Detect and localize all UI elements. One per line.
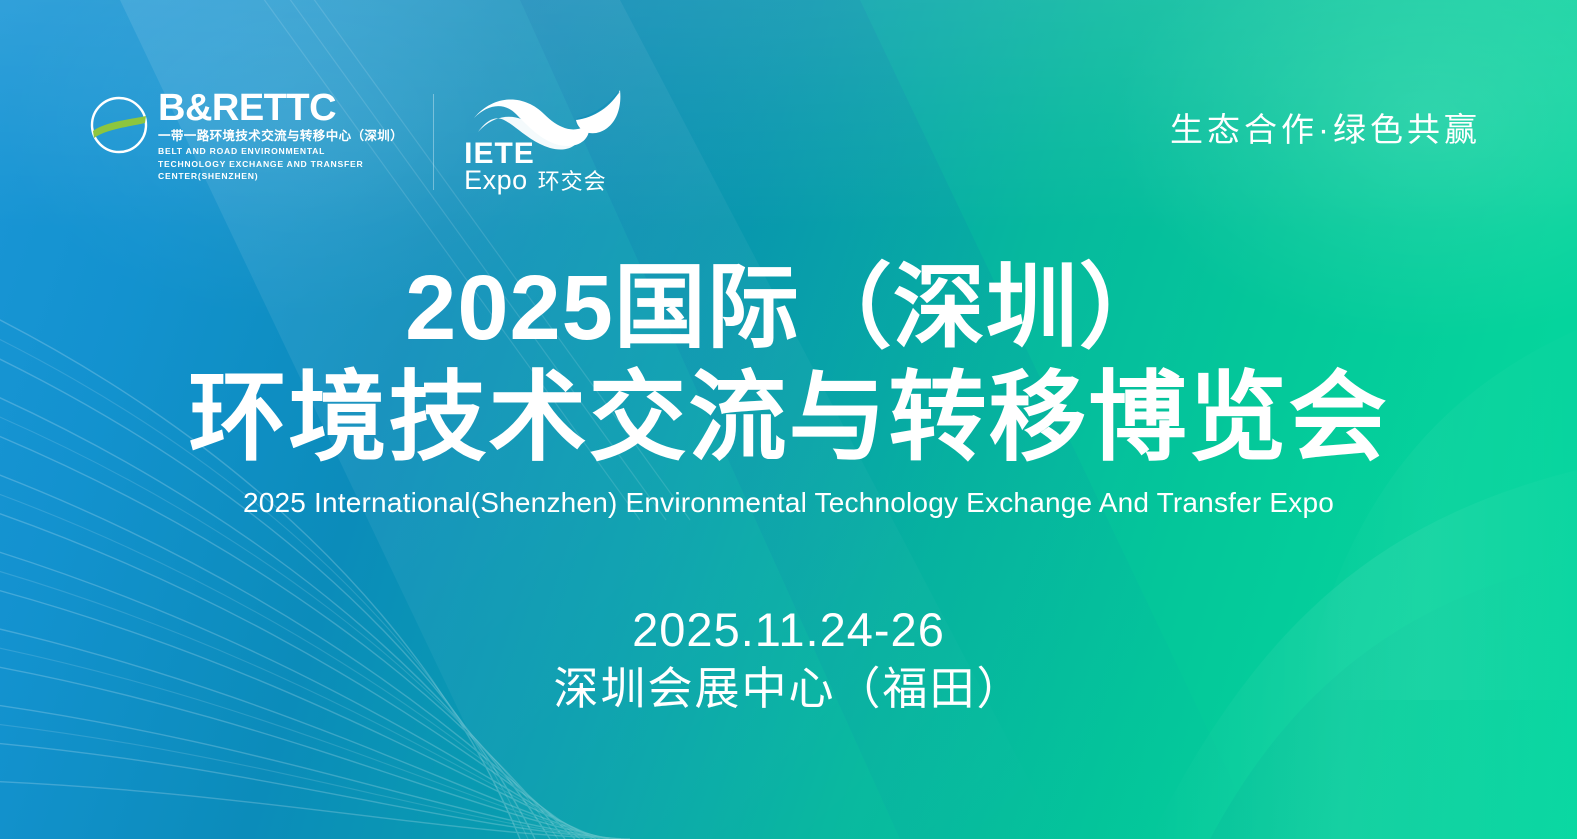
iete-expo-row: Expo 环交会 [464, 166, 607, 196]
title-line-2: 环境技术交流与转移博览会 [0, 362, 1577, 472]
title-line-1: 2025国际（深圳） [0, 256, 1577, 360]
main-title-block: 2025国际（深圳） 环境技术交流与转移博览会 2025 Internation… [0, 256, 1577, 520]
brettc-english-line-1: BELT AND ROAD ENVIRONMENTAL [158, 146, 403, 157]
logo-divider [433, 94, 434, 190]
brettc-english-line-2: TECHNOLOGY EXCHANGE AND TRANSFER [158, 159, 403, 170]
brettc-chinese-name: 一带一路环境技术交流与转移中心（深圳） [158, 129, 403, 144]
subtitle-english: 2025 International(Shenzhen) Environment… [0, 486, 1577, 520]
iete-expo-logo: IETE Expo 环交会 [464, 88, 624, 196]
event-venue: 深圳会展中心（福田） [0, 660, 1577, 718]
banner-slogan: 生态合作·绿色共赢 [1170, 103, 1481, 151]
circle-globe-green-band-icon [88, 94, 150, 156]
event-date: 2025.11.24-26 [0, 600, 1577, 660]
brettc-wordmark: B&RETTC [158, 88, 403, 128]
brettc-logo: B&RETTC 一带一路环境技术交流与转移中心（深圳） BELT AND ROA… [88, 88, 403, 182]
expo-banner: B&RETTC 一带一路环境技术交流与转移中心（深圳） BELT AND ROA… [0, 0, 1577, 839]
brettc-english-line-3: CENTER(SHENZHEN) [158, 171, 403, 182]
iete-chinese-short: 环交会 [538, 167, 607, 196]
banner-header: B&RETTC 一带一路环境技术交流与转移中心（深圳） BELT AND ROA… [0, 0, 1577, 220]
logo-row: B&RETTC 一带一路环境技术交流与转移中心（深圳） BELT AND ROA… [88, 88, 624, 196]
iete-expo-word: Expo [464, 166, 528, 195]
event-info-block: 2025.11.24-26 深圳会展中心（福田） [0, 600, 1577, 718]
